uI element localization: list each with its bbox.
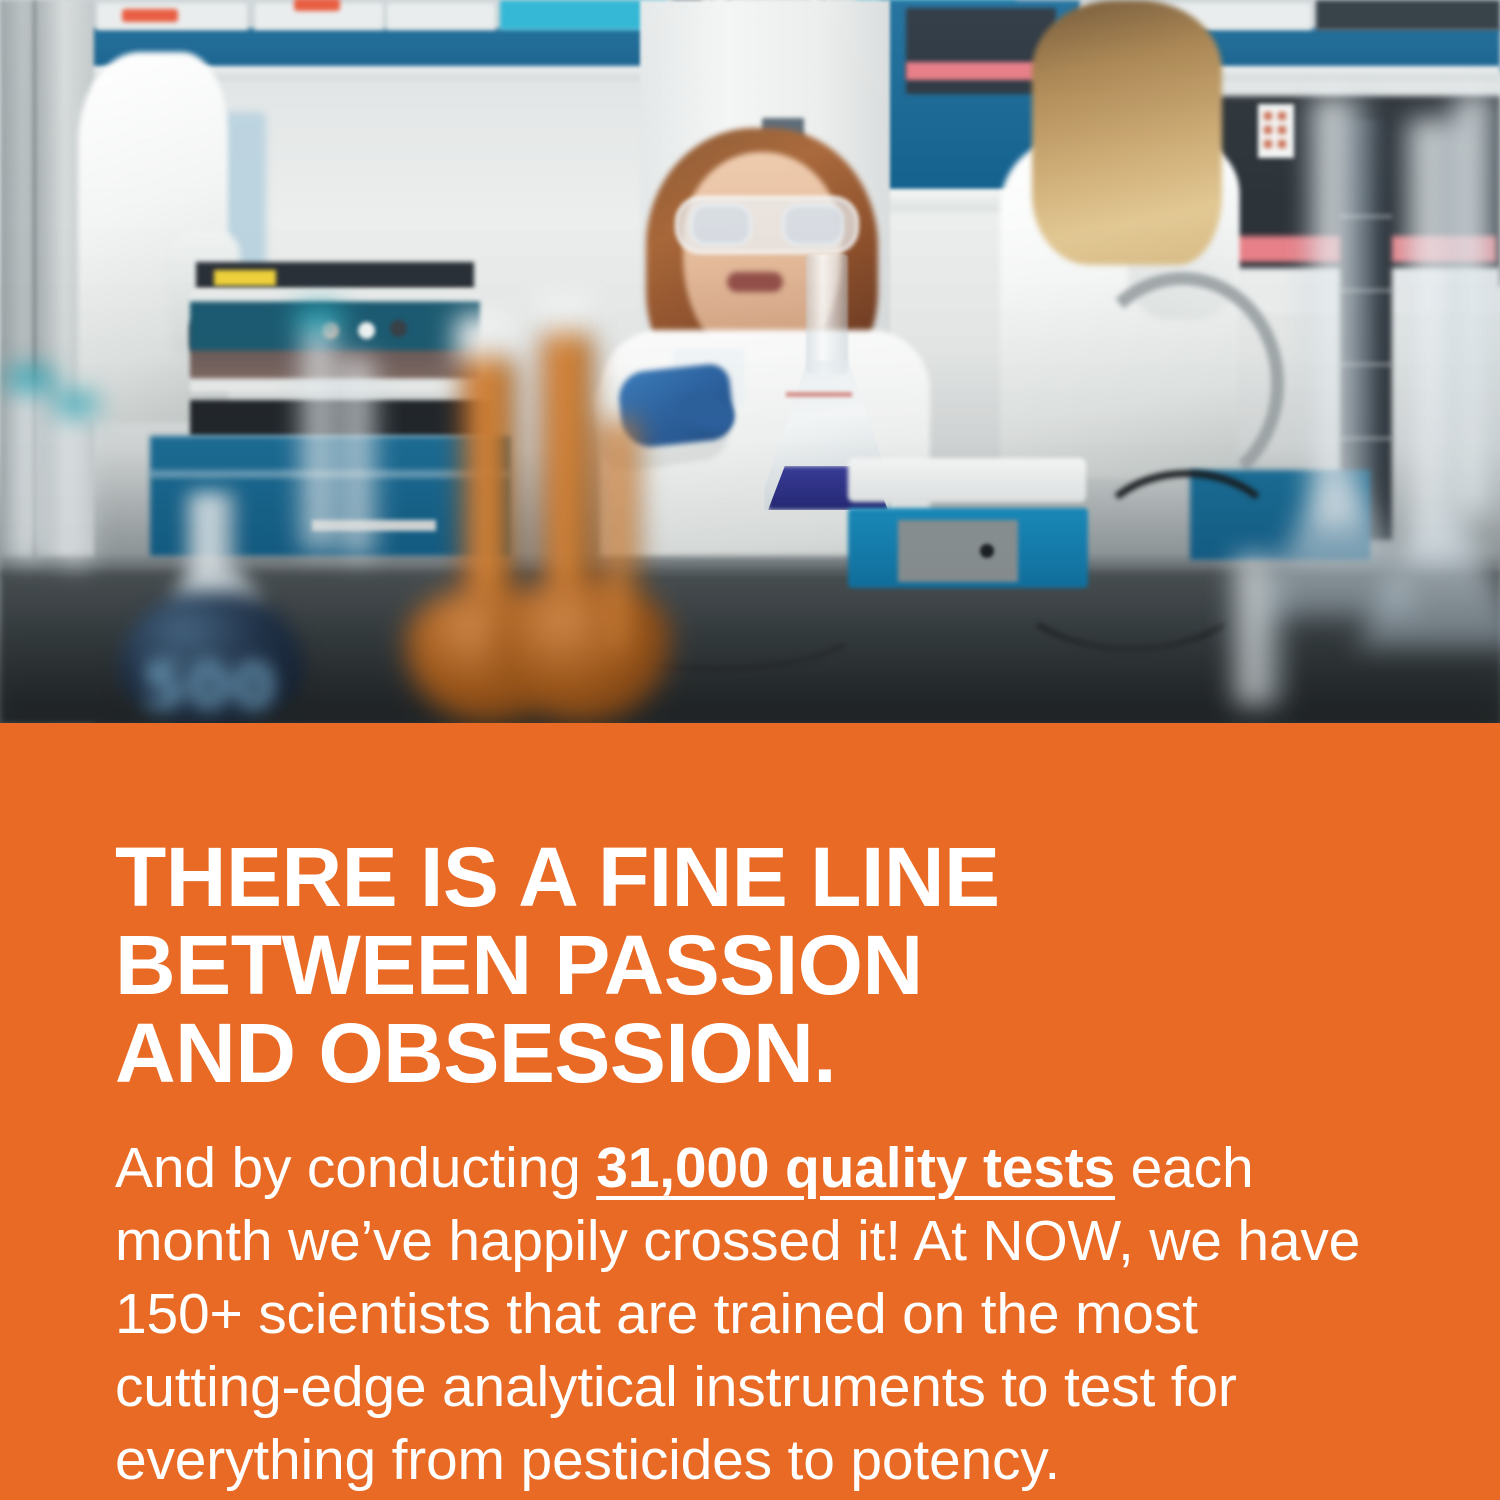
scientist-right-hair <box>1032 0 1222 265</box>
marketing-card: 500 <box>0 0 1500 1500</box>
safety-goggles <box>675 196 859 254</box>
body-segment-1: And by conducting <box>115 1136 596 1200</box>
center-flask-neck <box>806 254 848 374</box>
scientist-center-mouth <box>727 272 783 292</box>
center-instrument-top <box>848 458 1086 502</box>
quality-tests-emphasis: 31,000 quality tests <box>596 1136 1115 1200</box>
left-instrument-shadow <box>190 400 490 436</box>
left-instrument-label <box>214 270 276 286</box>
center-instrument-indicator <box>980 544 994 558</box>
headline: THERE IS A FINE LINE BETWEEN PASSION AND… <box>115 833 1415 1097</box>
center-flask-graduation <box>786 392 852 397</box>
flask-volume-label: 500 <box>142 650 277 723</box>
photo-scene: 500 <box>0 0 1500 723</box>
laboratory-photo: 500 <box>0 0 1500 723</box>
headline-line-3: AND OBSESSION. <box>115 1009 1415 1097</box>
wall-control-panel <box>1258 104 1294 158</box>
orange-text-panel: THERE IS A FINE LINE BETWEEN PASSION AND… <box>0 723 1500 1500</box>
center-instrument-panel <box>898 520 1018 582</box>
body-paragraph: And by conducting 31,000 quality tests e… <box>115 1132 1380 1497</box>
headline-line-1: THERE IS A FINE LINE <box>115 833 1415 921</box>
headline-line-2: BETWEEN PASSION <box>115 921 1415 1009</box>
